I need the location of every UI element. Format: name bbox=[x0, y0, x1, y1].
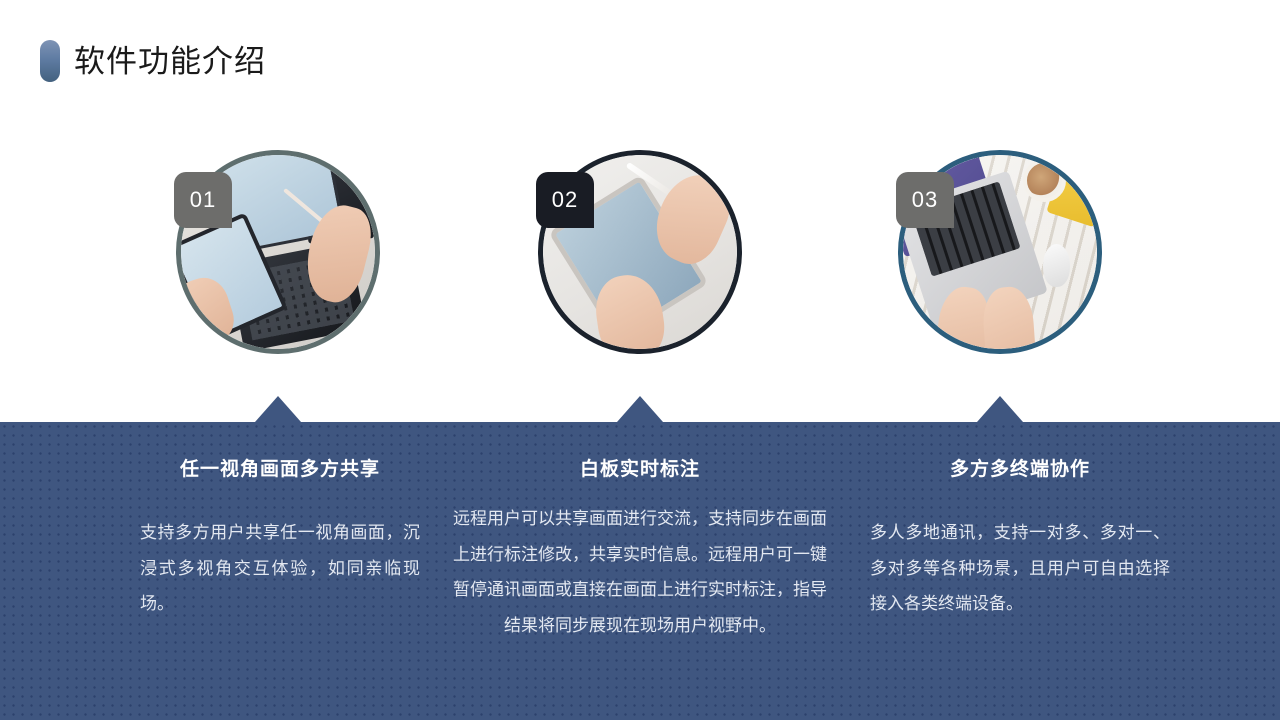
description-column-1: 任一视角画面多方共享 支持多方用户共享任一视角画面，沉浸式多视角交互体验，如同亲… bbox=[140, 422, 420, 622]
page-title-text: 软件功能介绍 bbox=[74, 46, 266, 77]
card-image-3[interactable]: 03 bbox=[898, 150, 1102, 354]
description-panel: 任一视角画面多方共享 支持多方用户共享任一视角画面，沉浸式多视角交互体验，如同亲… bbox=[0, 422, 1280, 720]
card-body-3: 多人多地通讯，支持一对多、多对一、多对多等各种场景，且用户可自由选择接入各类终端… bbox=[870, 515, 1170, 622]
card-body-1: 支持多方用户共享任一视角画面，沉浸式多视角交互体验，如同亲临现场。 bbox=[140, 515, 420, 622]
card-title-1: 任一视角画面多方共享 bbox=[140, 454, 420, 481]
card-image-1[interactable]: 01 bbox=[176, 150, 380, 354]
card-body-2: 远程用户可以共享画面进行交流，支持同步在画面上进行标注修改，共享实时信息。远程用… bbox=[450, 501, 830, 644]
card-number-badge-3: 03 bbox=[896, 172, 954, 228]
description-column-3: 多方多终端协作 多人多地通讯，支持一对多、多对一、多对多等各种场景，且用户可自由… bbox=[870, 422, 1170, 622]
description-columns: 任一视角画面多方共享 支持多方用户共享任一视角画面，沉浸式多视角交互体验，如同亲… bbox=[0, 422, 1280, 720]
card-title-2: 白板实时标注 bbox=[450, 454, 830, 481]
card-image-row: 01 02 bbox=[0, 150, 1280, 360]
pill-bullet-icon bbox=[40, 40, 60, 82]
panel-notch-2 bbox=[617, 396, 663, 422]
card-image-2[interactable]: 02 bbox=[538, 150, 742, 354]
description-column-2: 白板实时标注 远程用户可以共享画面进行交流，支持同步在画面上进行标注修改，共享实… bbox=[450, 422, 830, 644]
card-title-3: 多方多终端协作 bbox=[870, 454, 1170, 481]
page-title: 软件功能介绍 bbox=[40, 40, 266, 82]
panel-notch-3 bbox=[977, 396, 1023, 422]
slide-root: 软件功能介绍 01 bbox=[0, 0, 1280, 720]
card-number-badge-1: 01 bbox=[174, 172, 232, 228]
card-number-badge-2: 02 bbox=[536, 172, 594, 228]
panel-notch-1 bbox=[255, 396, 301, 422]
